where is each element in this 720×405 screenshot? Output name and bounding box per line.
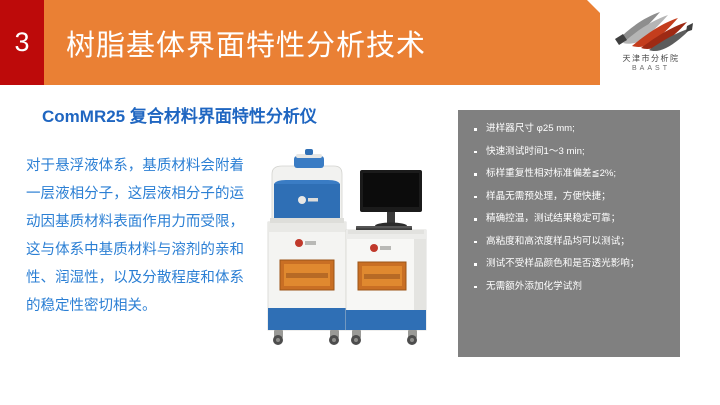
spec-item: 精确控温，测试结果稳定可靠； [472,212,668,226]
logo-text-block: 天津市分析院 BAAST [596,54,706,73]
spec-item: 快速测试时间1～3 min; [472,145,668,159]
spec-panel: 进样器尺寸 φ25 mm; 快速测试时间1～3 min; 标样重复性相对标准偏差… [458,110,680,357]
spec-item: 测试不受样品颜色和是否透光影响； [472,257,668,271]
spec-item: 样晶无需预处理，方便快捷； [472,190,668,204]
spec-item: 高粘度和高浓度样品均可以测试； [472,235,668,249]
slide-root: 3 树脂基体界面特性分析技术 天津市分析院 BAAST ComMR25 复合材料… [0,0,720,405]
spec-list: 进样器尺寸 φ25 mm; 快速测试时间1～3 min; 标样重复性相对标准偏差… [472,122,668,294]
logo-text-en: BAAST [596,64,706,73]
spec-item: 进样器尺寸 φ25 mm; [472,122,668,136]
spec-item: 无需额外添加化学试剂 [472,280,668,294]
equipment-photo [256,140,456,365]
logo-text-cn: 天津市分析院 [596,54,706,64]
page-title: 树脂基体界面特性分析技术 [66,0,426,85]
rog-eagle-icon [612,8,694,56]
product-subtitle: ComMR25 复合材料界面特性分析仪 [42,102,317,127]
body-paragraph: 对于悬浮液体系，基质材料会附着一层液相分子，这层液相分子的运动因基质材料表面作用… [26,152,244,320]
brand-logo: 天津市分析院 BAAST [596,8,706,82]
equipment-illustration-icon [256,140,456,365]
section-number: 3 [14,29,29,56]
section-number-block: 3 [0,0,44,85]
spec-item: 标样重复性相对标准偏差≦2%; [472,167,668,181]
